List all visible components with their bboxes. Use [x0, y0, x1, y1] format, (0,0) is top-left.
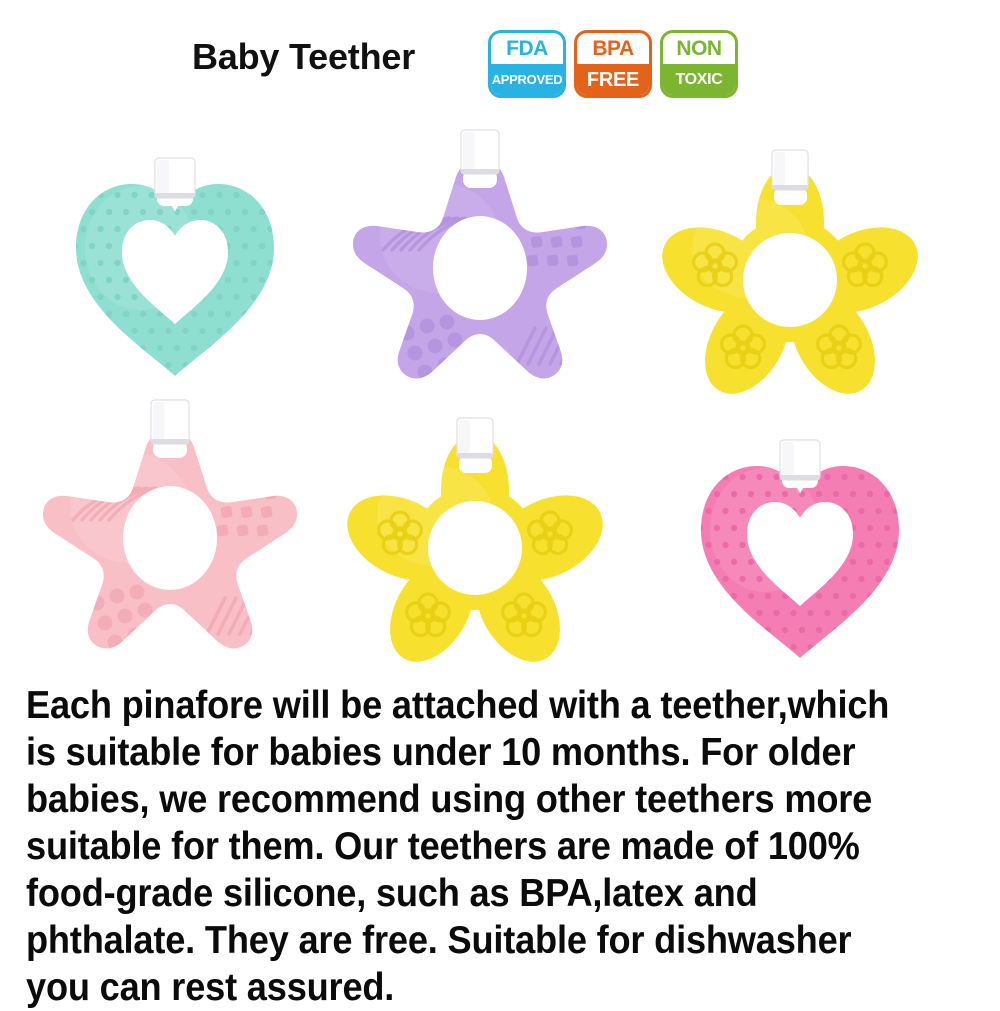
product-cell-yellow-flower-top [655, 130, 925, 395]
teether-yellow-flower-top-graphic [655, 130, 925, 395]
teether-pink-star [35, 388, 305, 653]
teether-yellow-flower-bottom-graphic [340, 398, 610, 663]
teether-mint-heart [40, 128, 310, 393]
product-cell-yellow-flower-bottom [340, 398, 610, 663]
teether-rose-heart [665, 410, 935, 675]
teether-mint-heart-graphic [40, 128, 310, 393]
teether-pink-star-graphic [35, 388, 305, 653]
product-grid [0, 118, 1000, 678]
fda-badge-bottom-label: APPROVED [491, 64, 563, 95]
teether-rose-heart-graphic [665, 410, 935, 675]
product-cell-mint-heart [40, 128, 310, 393]
non-toxic-badge: NON TOXIC [660, 30, 738, 98]
product-cell-pink-star [35, 388, 305, 653]
bpa-free-badge: BPA FREE [574, 30, 652, 98]
fda-badge-top-label: FDA [491, 33, 563, 64]
header: Baby Teether FDA APPROVED BPA FREE NON T… [0, 0, 1000, 120]
fda-approved-badge: FDA APPROVED [488, 30, 566, 98]
teether-purple-star-graphic [345, 118, 615, 383]
product-description: Each pinafore will be attached with a te… [26, 682, 919, 1011]
teether-yellow-flower-top [655, 130, 925, 395]
page-title: Baby Teether [192, 36, 415, 78]
bpa-badge-top-label: BPA [577, 33, 649, 64]
teether-yellow-flower-bottom [340, 398, 610, 663]
non-badge-top-label: NON [663, 33, 735, 64]
product-cell-rose-heart [665, 410, 935, 675]
bpa-badge-bottom-label: FREE [577, 64, 649, 95]
product-cell-purple-star [345, 118, 615, 383]
certification-badges: FDA APPROVED BPA FREE NON TOXIC [488, 30, 738, 98]
non-badge-bottom-label: TOXIC [663, 64, 735, 95]
teether-purple-star [345, 118, 615, 383]
